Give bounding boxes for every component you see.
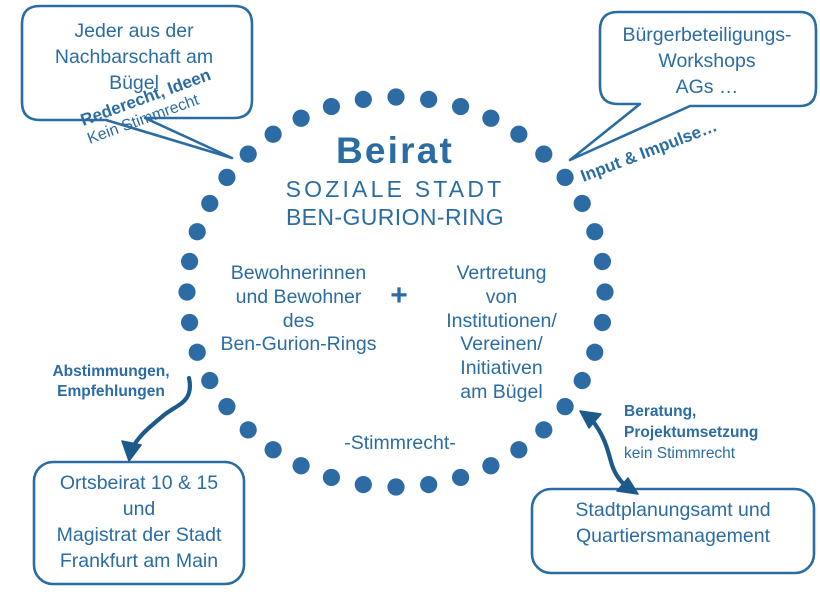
ring-dot <box>482 457 499 474</box>
ring-dot <box>594 253 611 270</box>
ring-dot <box>452 98 469 115</box>
box-bottom-right-text: Stadtplanungsamt und Quartiersmanagement <box>536 497 810 549</box>
ring-dot <box>535 421 552 438</box>
ring-dot <box>178 283 195 300</box>
ring-dot <box>323 98 340 115</box>
ring-dot <box>596 283 613 300</box>
arrow-label-beratung-line1: Beratung, <box>624 402 814 423</box>
ring-dot <box>420 91 437 108</box>
page-title: Beirat <box>220 128 570 173</box>
ring-dot <box>420 476 437 493</box>
ring-dot <box>218 398 235 415</box>
member-group-institutions: Vertretung von Institutionen/ Vereinen/ … <box>414 262 589 405</box>
ring-dot <box>387 478 404 495</box>
ring-dot <box>387 88 404 105</box>
voting-rights-note: -Stimmrecht- <box>300 432 500 456</box>
subtitle-ben-gurion-ring: BEN-GURION-RING <box>220 203 570 231</box>
ring-dot <box>482 110 499 127</box>
diagram-canvas: Jeder aus der Nachbarschaft am Bügel Bür… <box>0 0 820 600</box>
ring-dot <box>452 469 469 486</box>
ring-dot <box>293 457 310 474</box>
ring-dot <box>586 223 603 240</box>
arrow-label-beratung-line2: Projektumsetzung <box>624 423 814 444</box>
ring-dot <box>323 469 340 486</box>
ring-dot <box>201 195 218 212</box>
ring-dot <box>293 110 310 127</box>
ring-dot <box>240 421 257 438</box>
arrow-label-abstimmungen: Abstimmungen, Empfehlungen <box>22 362 200 403</box>
arrow-label-beratung-line3: kein Stimmrecht <box>624 444 814 465</box>
ring-dot <box>189 223 206 240</box>
box-bottom-left-text: Ortsbeirat 10 & 15 und Magistrat der Sta… <box>38 470 240 575</box>
arrow-label-beratung: Beratung, Projektumsetzung kein Stimmrec… <box>624 402 814 464</box>
ring-dot <box>510 441 527 458</box>
ring-dot <box>265 441 282 458</box>
member-group-residents: Bewohnerinnen und Bewohner des Ben-Gurio… <box>196 262 401 357</box>
ring-dot <box>355 476 372 493</box>
ring-dot <box>594 314 611 331</box>
plus-icon: + <box>385 278 413 315</box>
subtitle-soziale-stadt: SOZIALE STADT <box>220 175 570 203</box>
bubble-top-right-text: Bürgerbeteiligungs- Workshops AGs … <box>604 22 810 100</box>
ring-dot <box>574 195 591 212</box>
ring-dot <box>201 372 218 389</box>
ring-dot <box>355 91 372 108</box>
